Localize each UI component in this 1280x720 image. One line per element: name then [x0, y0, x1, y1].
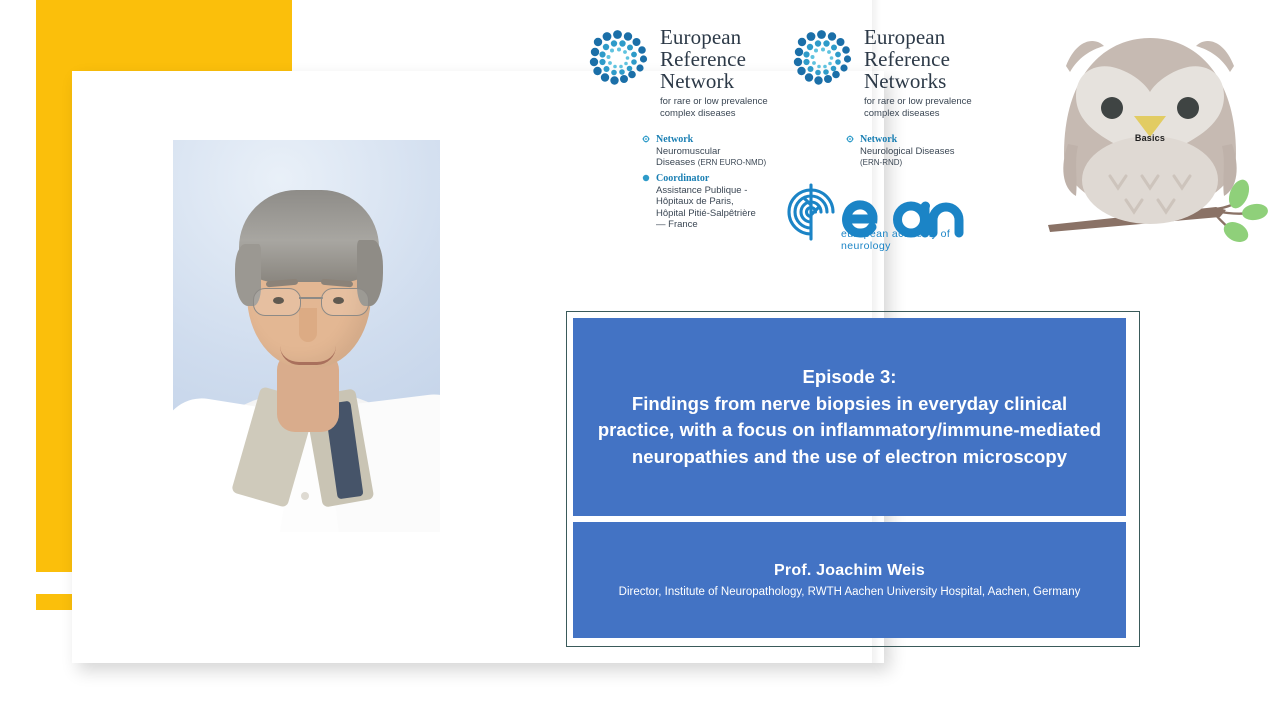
ean-tagline: european academy of neurology	[841, 228, 996, 252]
ern-rnd-network-heading: Network	[860, 134, 990, 146]
ern-rnd-word-line-1: European	[864, 26, 950, 48]
ern-nmd-entry-network: Network Neuromuscular Diseases (ERN EURO…	[656, 134, 782, 169]
logo-ern-euro-nmd: European Reference Network for rare or l…	[588, 28, 778, 228]
ern-rnd-subtitle: for rare or low prevalence complex disea…	[864, 96, 992, 119]
yellow-accent-left-bar	[36, 0, 72, 572]
speaker-name: Prof. Joachim Weis	[774, 560, 925, 582]
episode-title-line-1: Findings from nerve biopsies in everyday…	[632, 393, 1067, 414]
ern-nmd-network-heading: Network	[656, 134, 782, 146]
ern-nmd-coordinator-line-1: Assistance Publique -	[656, 185, 786, 197]
episode-title-line-3: neuropathies and the use of electron mic…	[632, 446, 1067, 467]
ern-rnd-network-line-1: Neurological Diseases	[860, 146, 990, 158]
glasses-lens-left	[253, 288, 301, 316]
episode-label: Episode 3:	[579, 364, 1120, 391]
slide-canvas: European Reference Network for rare or l…	[0, 0, 1280, 720]
episode-title-line-2: practice, with a focus on inflammatory/i…	[598, 419, 1101, 440]
owl-eye-right	[1177, 97, 1199, 119]
speaker-info-box: Prof. Joachim Weis Director, Institute o…	[573, 522, 1126, 638]
ern-nmd-entry-coordinator: Coordinator Assistance Publique - Hôpita…	[656, 173, 786, 231]
glasses-lens-right	[321, 288, 369, 316]
dot-icon	[642, 174, 650, 182]
ern-nmd-coordinator-line-2: Hôpitaux de Paris,	[656, 196, 786, 208]
gear-icon	[846, 135, 854, 143]
episode-title-text: Episode 3: Findings from nerve biopsies …	[573, 364, 1126, 470]
yellow-accent-top-bar	[36, 0, 292, 71]
owl-illustration-icon	[1020, 4, 1280, 254]
portrait-coat-button	[301, 492, 309, 500]
ern-nmd-network-line-1: Neuromuscular	[656, 146, 782, 158]
ern-nmd-word-line-1: European	[660, 26, 746, 48]
yellow-accent-dash	[36, 594, 72, 610]
portrait-glasses-icon	[253, 288, 369, 316]
glasses-bridge	[299, 297, 323, 299]
ern-dot-spiral-icon	[588, 28, 652, 90]
speaker-portrait-photo	[173, 140, 440, 532]
ern-nmd-coordinator-line-4: — France	[656, 219, 786, 231]
episode-title-box: Episode 3: Findings from nerve biopsies …	[573, 318, 1126, 516]
ern-nmd-word-line-3: Network	[660, 70, 746, 92]
ern-nmd-network-line-2: Diseases	[656, 157, 698, 168]
logo-ean: european academy of neurology	[781, 181, 996, 251]
owl-mascot-logo: Basics	[1020, 4, 1280, 254]
ern-nmd-coordinator-heading: Coordinator	[656, 173, 786, 185]
ern-nmd-word-line-2: Reference	[660, 48, 746, 70]
ern-rnd-word-line-3: Networks	[864, 70, 950, 92]
gear-icon	[642, 135, 650, 143]
ern-dot-spiral-icon	[792, 28, 856, 90]
ern-rnd-entry-network: Network Neurological Diseases (ERN-RND)	[860, 134, 990, 169]
speaker-role: Director, Institute of Neuropathology, R…	[619, 584, 1081, 601]
ern-rnd-wordmark: European Reference Networks	[864, 26, 950, 92]
ern-rnd-network-code: (ERN-RND)	[860, 157, 990, 169]
owl-basics-badge: Basics	[1020, 133, 1280, 143]
ern-nmd-network-line-2-wrap: Diseases (ERN EURO-NMD)	[656, 157, 782, 169]
ern-rnd-word-line-2: Reference	[864, 48, 950, 70]
ern-nmd-coordinator-line-3: Hôpital Pitié-Salpêtrière	[656, 208, 786, 220]
logo-ern-rnd: European Reference Networks for rare or …	[792, 28, 992, 158]
ern-nmd-wordmark: European Reference Network	[660, 26, 746, 92]
ern-nmd-network-code: (ERN EURO-NMD)	[698, 158, 766, 167]
owl-eye-left	[1101, 97, 1123, 119]
ern-nmd-subtitle: for rare or low prevalence complex disea…	[660, 96, 788, 119]
